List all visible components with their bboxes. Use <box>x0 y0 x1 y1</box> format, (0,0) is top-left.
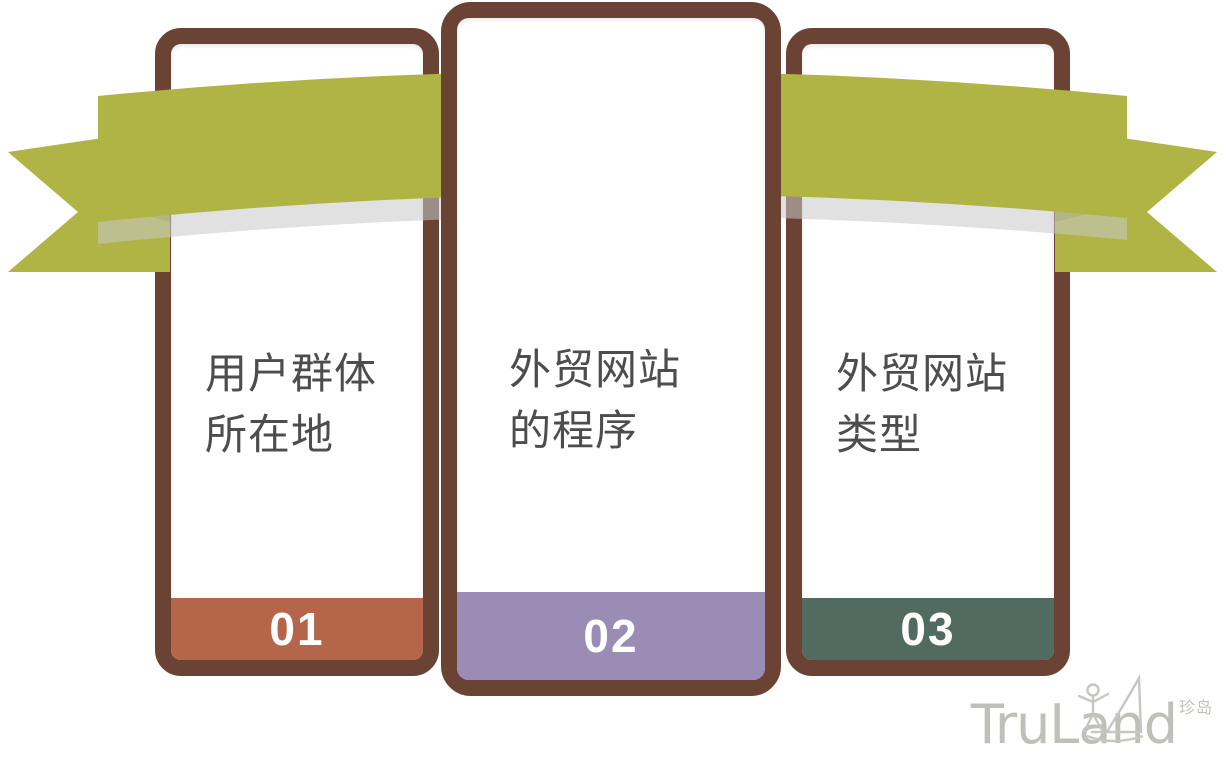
card-02-line1: 外贸网站 <box>509 340 713 401</box>
watermark-brand-cn: 珍岛 <box>1179 694 1213 718</box>
watermark-logo: TruLand 珍岛 <box>971 694 1213 752</box>
card-01-number-bar: 01 <box>171 598 423 660</box>
card-02-number-bar: 02 <box>457 592 765 680</box>
card-03-number: 03 <box>900 602 955 656</box>
card-03-line2: 类型 <box>836 405 1020 466</box>
sailboat-figure-icon <box>1067 674 1177 748</box>
card-03-line1: 外贸网站 <box>836 344 1020 405</box>
card-03-text: 外贸网站 类型 <box>802 344 1054 466</box>
card-02-body: 外贸网站 的程序 02 <box>457 18 765 680</box>
slide-canvas: 用户群体 所在地 01 外贸网站 类型 03 <box>0 0 1225 770</box>
card-01-number: 01 <box>269 602 324 656</box>
card-03-number-bar: 03 <box>802 598 1054 660</box>
card-01-line2: 所在地 <box>205 405 389 466</box>
card-02-text: 外贸网站 的程序 <box>457 340 765 462</box>
card-01-line1: 用户群体 <box>205 344 389 405</box>
card-02-line2: 的程序 <box>509 401 713 462</box>
card-02[interactable]: 外贸网站 的程序 02 <box>441 2 781 696</box>
card-01-text: 用户群体 所在地 <box>171 344 423 466</box>
card-02-number: 02 <box>583 609 638 663</box>
watermark-brand: TruLand <box>971 698 1177 752</box>
